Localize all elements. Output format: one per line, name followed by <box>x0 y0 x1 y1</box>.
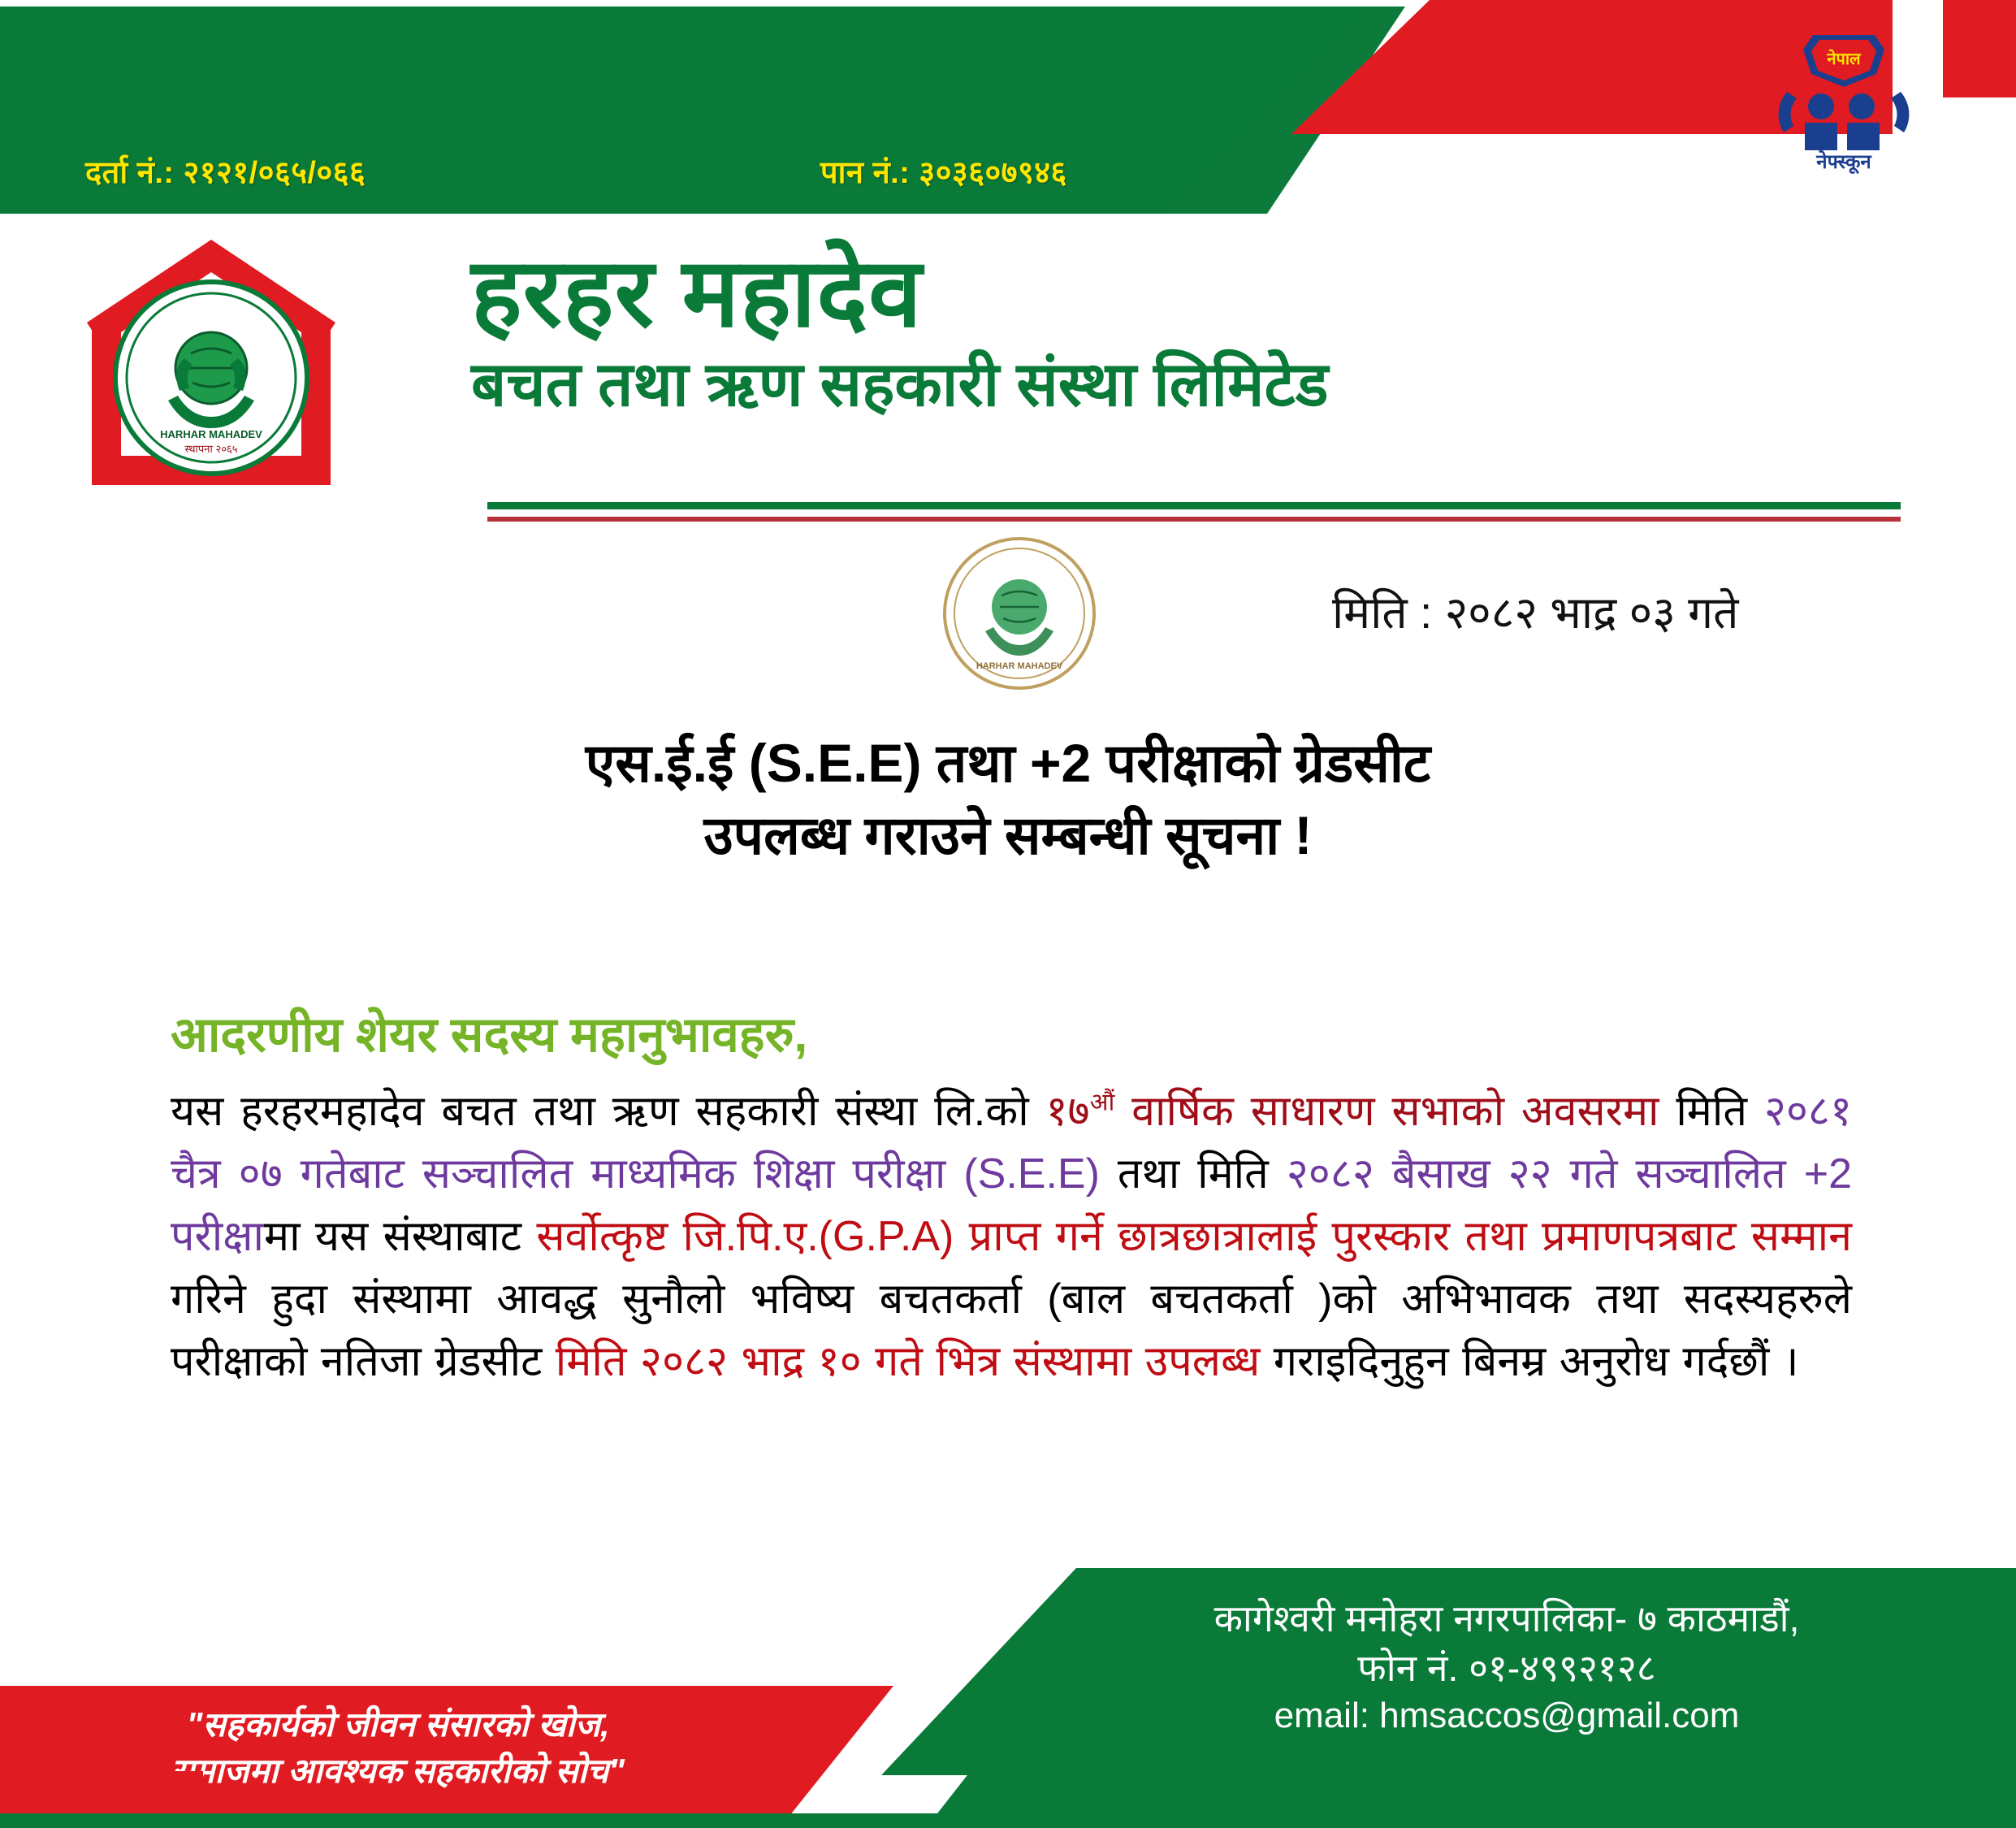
registration-number: दर्ता नं.: २१२१/०६५/०६६ <box>85 150 366 193</box>
nefscun-logo-icon: नेपाल नेफ्स्कून <box>1763 28 1925 175</box>
svg-text:नेपाल: नेपाल <box>1826 49 1862 68</box>
notice-body-run: मिति २०८२ भाद्र १० गते भित्र संस्थामा उप… <box>556 1338 1261 1385</box>
divider-green <box>487 502 1901 509</box>
notice-body-run: मिति <box>1676 1088 1764 1135</box>
notice-body-run: वार्षिक साधारण सभाको अवसरमा <box>1114 1088 1676 1135</box>
notice-body-run: गराइदिनुहुन बिनम्र अनुरोध गर्दछौं । <box>1260 1338 1798 1385</box>
notice-heading: एस.ई.ई (S.E.E) तथा +2 परीक्षाको ग्रेडसीट… <box>0 727 2016 872</box>
footer-phone: फोन नं. ०१-४९९२१२८ <box>1040 1644 1974 1693</box>
footer-green-strip <box>0 1813 2016 1828</box>
seal-year-label: स्थापना २०६५ <box>184 443 237 455</box>
notice-body-run: यस हरहरमहादेव बचत तथा ऋण सहकारी संस्था ल… <box>171 1088 1045 1135</box>
notice-body: यस हरहरमहादेव बचत तथा ऋण सहकारी संस्था ल… <box>171 1081 1852 1393</box>
divider-red <box>487 517 1901 522</box>
notice-heading-line-1: एस.ई.ई (S.E.E) तथा +2 परीक्षाको ग्रेडसीट <box>0 727 2016 799</box>
house-seal-logo-icon: HARHAR MAHADEV स्थापना २०६५ <box>77 232 345 508</box>
organization-subtitle: बचत तथा ऋण सहकारी संस्था लिमिटेड <box>471 349 1901 420</box>
notice-body-run: तथा मिति <box>1100 1150 1287 1198</box>
nefscun-logo-label: नेफ्स्कून <box>1815 150 1872 175</box>
notice-heading-line-2: उपलब्ध गराउने सम्बन्धी सूचना ! <box>0 799 2016 872</box>
organization-name: हरहर महादेव <box>471 244 1901 344</box>
watermark-seal-icon: HARHAR MAHADEV <box>938 532 1101 695</box>
organization-logo: HARHAR MAHADEV स्थापना २०६५ <box>77 232 345 508</box>
footer-address: कागेश्वरी मनोहरा नगरपालिका- ७ काठमाडौं, … <box>1040 1594 1974 1740</box>
organization-title-block: हरहर महादेव बचत तथा ऋण सहकारी संस्था लिम… <box>471 244 1901 420</box>
svg-text:HARHAR MAHADEV: HARHAR MAHADEV <box>160 428 262 440</box>
document-date: मिति : २०८२ भाद्र ०३ गते <box>1332 581 1738 642</box>
notice-body-run: सर्वोत्कृष्ट जि.पि.ए.(G.P.A) प्राप्त गर्… <box>536 1213 1852 1260</box>
header-red-corner-shape <box>1943 0 2016 97</box>
salutation: आदरणीय शेयर सदस्य महानुभावहरु, <box>171 999 807 1066</box>
footer-email: email: hmsaccos@gmail.com <box>1040 1692 1974 1739</box>
notice-body-run: औं <box>1090 1089 1115 1116</box>
pan-number: पान नं.: ३०३६०७९४६ <box>820 150 1067 193</box>
notice-body-run: १७ <box>1045 1088 1089 1135</box>
svg-text:HARHAR MAHADEV: HARHAR MAHADEV <box>976 661 1063 671</box>
nefscun-logo: नेपाल नेफ्स्कून <box>1763 28 1925 175</box>
notice-body-run: मा यस संस्थाबाट <box>264 1213 536 1260</box>
footer-slogan-line-1: "सहकार्यको जीवन संसारको खोज, <box>89 1702 707 1748</box>
footer-address-line-1: कागेश्वरी मनोहरा नगरपालिका- ७ काठमाडौं, <box>1040 1594 1974 1644</box>
